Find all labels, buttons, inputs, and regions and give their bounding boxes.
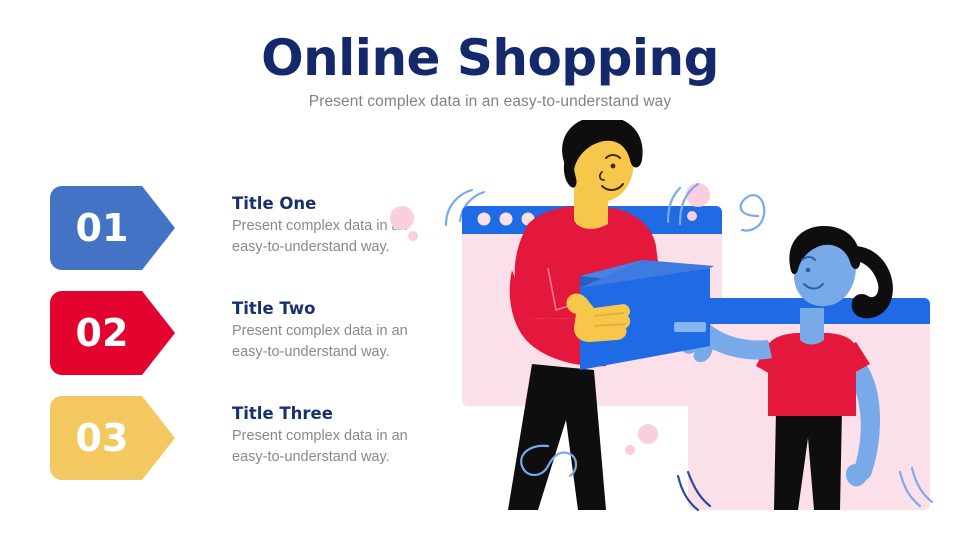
list-item[interactable]: 03 Title Three Present complex data in a… <box>50 396 420 480</box>
list-item[interactable]: 01 Title One Present complex data in an … <box>50 186 420 270</box>
page-title: Online Shopping <box>0 32 980 85</box>
eye-icon <box>806 268 811 273</box>
step-badge-02: 02 <box>50 291 175 375</box>
page-subtitle: Present complex data in an easy-to-under… <box>0 93 980 111</box>
online-shopping-illustration <box>380 120 980 551</box>
slide-header: Online Shopping Present complex data in … <box>0 32 980 111</box>
decor-dot-icon <box>638 424 658 444</box>
decor-dot-icon <box>625 445 635 455</box>
box-label-icon <box>674 322 706 332</box>
step-number: 02 <box>50 291 154 375</box>
browser-dot-icon <box>500 213 513 226</box>
browser-dot-icon <box>478 213 491 226</box>
step-badge-01: 01 <box>50 186 175 270</box>
step-number: 01 <box>50 186 154 270</box>
decor-dot-icon <box>687 211 697 221</box>
decor-dot-icon <box>408 231 418 241</box>
decor-dot-icon <box>390 206 414 230</box>
step-badge-03: 03 <box>50 396 175 480</box>
decor-squiggle-icon <box>741 195 765 230</box>
list-item[interactable]: 02 Title Two Present complex data in an … <box>50 291 420 375</box>
eye-icon <box>611 164 616 169</box>
slide-canvas: Online Shopping Present complex data in … <box>0 0 980 551</box>
steps-list: 01 Title One Present complex data in an … <box>50 186 420 501</box>
step-number: 03 <box>50 396 154 480</box>
decor-dot-icon <box>686 183 710 207</box>
